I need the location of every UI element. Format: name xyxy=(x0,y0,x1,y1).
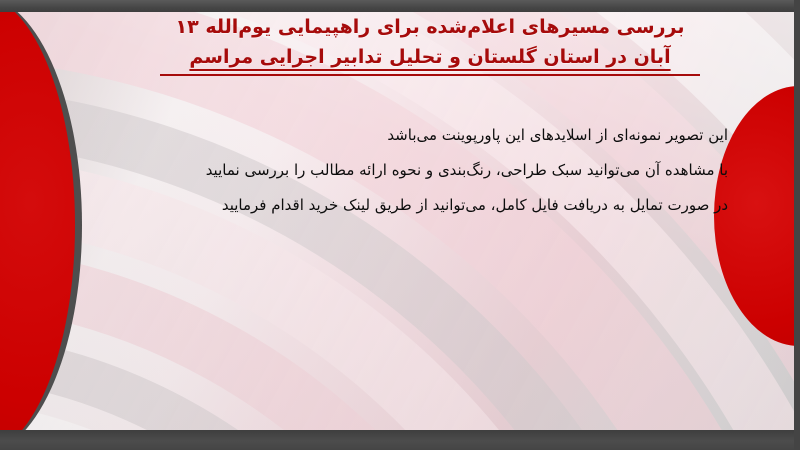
frame-band-top xyxy=(0,0,800,12)
frame-band-bottom xyxy=(0,430,800,450)
panel-vignette xyxy=(0,12,794,430)
background-arc-bands xyxy=(0,12,794,430)
slide-panel xyxy=(0,12,794,430)
slide-canvas: بررسی مسیرهای اعلام‌شده برای راهپیمایی ی… xyxy=(0,0,800,450)
frame-band-right xyxy=(794,0,800,450)
